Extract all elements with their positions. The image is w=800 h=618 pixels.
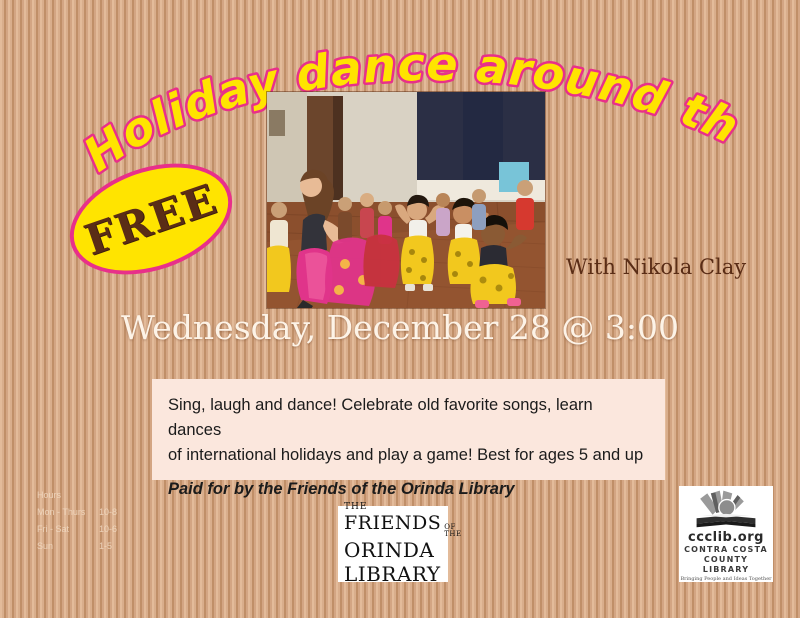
hours-time: 10-8 — [99, 504, 117, 521]
friends-logo-friends-row: FRIENDS OF THE — [344, 512, 442, 538]
library-hours: Hours Mon - Thurs 10-8 Fri - Sat 10-6 Su… — [37, 487, 137, 555]
hours-row: Mon - Thurs 10-8 — [37, 504, 137, 521]
description-line-2: of international holidays and play a gam… — [168, 443, 649, 468]
presenter-credit: With Nikola Clay — [566, 255, 746, 279]
hours-days: Sun — [37, 538, 99, 555]
hours-row: Sun 1-5 — [37, 538, 137, 555]
friends-logo-the: THE — [344, 502, 442, 512]
event-date-time: Wednesday, December 28 @ 3:00 — [0, 308, 800, 347]
hours-time: 1-5 — [99, 538, 112, 555]
sponsor-credit: Paid for by the Friends of the Orinda Li… — [168, 477, 649, 502]
friends-logo-of-the: OF THE — [444, 524, 461, 538]
ccclib-name-line-2: COUNTY LIBRARY — [679, 555, 773, 575]
children-dancing-photo — [267, 92, 545, 308]
photo-illustration — [267, 92, 545, 308]
hours-time: 10-6 — [99, 521, 117, 538]
friends-logo-friends: FRIENDS — [344, 512, 441, 534]
ccclib-name-line-1: CONTRA COSTA — [684, 545, 768, 555]
hours-days: Mon - Thurs — [37, 504, 99, 521]
free-badge: FREE — [55, 143, 247, 294]
open-book-fan-icon — [687, 488, 765, 529]
free-badge-label: FREE — [55, 143, 247, 294]
ccclib-tagline: Bringing People and Ideas Together — [680, 576, 771, 582]
ccclib-logo: ccclib.org CONTRA COSTA COUNTY LIBRARY B… — [679, 486, 773, 582]
friends-logo-library: LIBRARY — [344, 562, 442, 586]
friends-of-orinda-library-logo: THE FRIENDS OF THE ORINDA LIBRARY — [338, 506, 448, 582]
hours-days: Fri - Sat — [37, 521, 99, 538]
friends-logo-the2: THE — [444, 531, 461, 538]
hours-heading-label: Hours — [37, 487, 99, 504]
description-line-1: Sing, laugh and dance! Celebrate old fav… — [168, 393, 649, 443]
hours-heading: Hours — [37, 487, 137, 504]
hours-row: Fri - Sat 10-6 — [37, 521, 137, 538]
friends-logo-orinda: ORINDA — [344, 538, 442, 562]
ccclib-url: ccclib.org — [688, 530, 764, 545]
description-panel: Sing, laugh and dance! Celebrate old fav… — [152, 379, 665, 480]
